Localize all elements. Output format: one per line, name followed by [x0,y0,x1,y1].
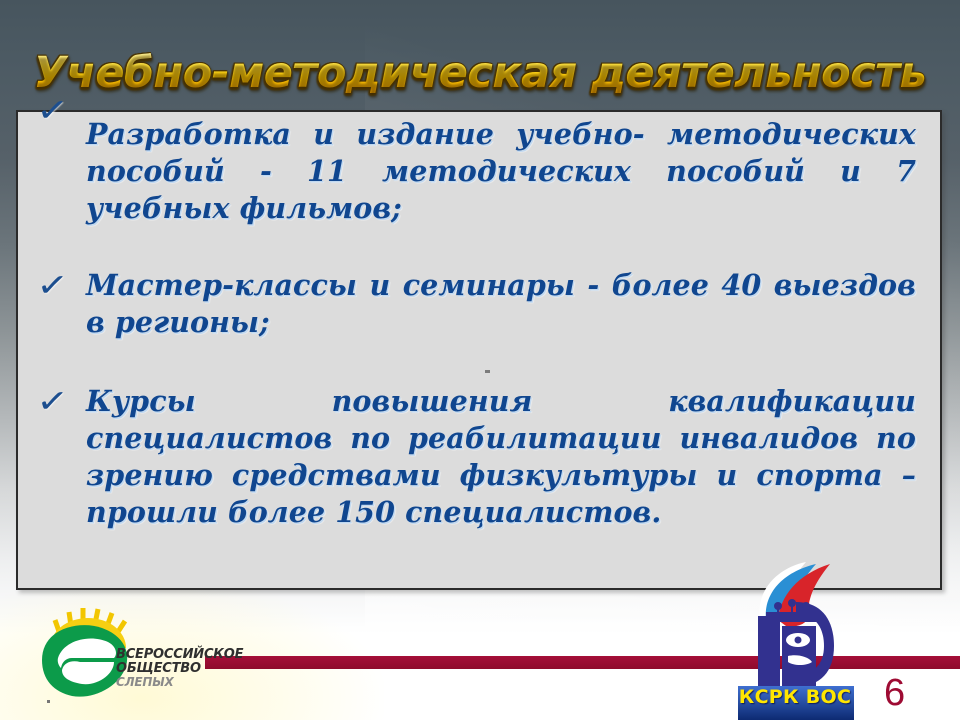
footer-dot-artifact [47,700,50,703]
list-item: ✓ Разработка и издание учебно- методичес… [40,116,920,227]
bullet-text: Курсы повышения квалификации специалисто… [86,383,920,531]
vos-logo-wordmark: ВСЕРОССИЙСКОЕ ОБЩЕСТВО СЛЕПЫХ [116,648,243,689]
check-icon: ✓ [35,384,90,420]
check-icon: ✓ [35,268,90,304]
vos-line-1: ВСЕРОССИЙСКОЕ [116,648,243,662]
list-item: ✓ Мастер-классы и семинары - более 40 вы… [40,267,920,341]
ksrk-vos-logo: КСРК ВОС [736,560,856,720]
bullet-text: Разработка и издание учебно- методически… [86,116,920,227]
bullet-list: ✓ Разработка и издание учебно- методичес… [18,112,940,588]
speck-artifact [485,370,490,373]
slide-canvas: Учебно-методическая деятельность ✓ Разра… [0,0,960,720]
bullet-text: Мастер-классы и семинары - более 40 выез… [86,267,920,341]
ksrk-logo-label: КСРК ВОС [736,686,854,708]
mask-eye-pupil [795,637,802,644]
eye-icon [42,625,127,697]
content-panel: ✓ Разработка и издание учебно- методичес… [16,110,942,590]
page-number: 6 [884,672,905,715]
vos-logo: ВСЕРОССИЙСКОЕ ОБЩЕСТВО СЛЕПЫХ [28,600,248,712]
vos-line-2: ОБЩЕСТВО [116,662,243,676]
check-icon: ✓ [35,92,90,128]
list-item: ✓ Курсы повышения квалификации специалис… [40,383,920,531]
vos-line-3: СЛЕПЫХ [116,676,243,689]
